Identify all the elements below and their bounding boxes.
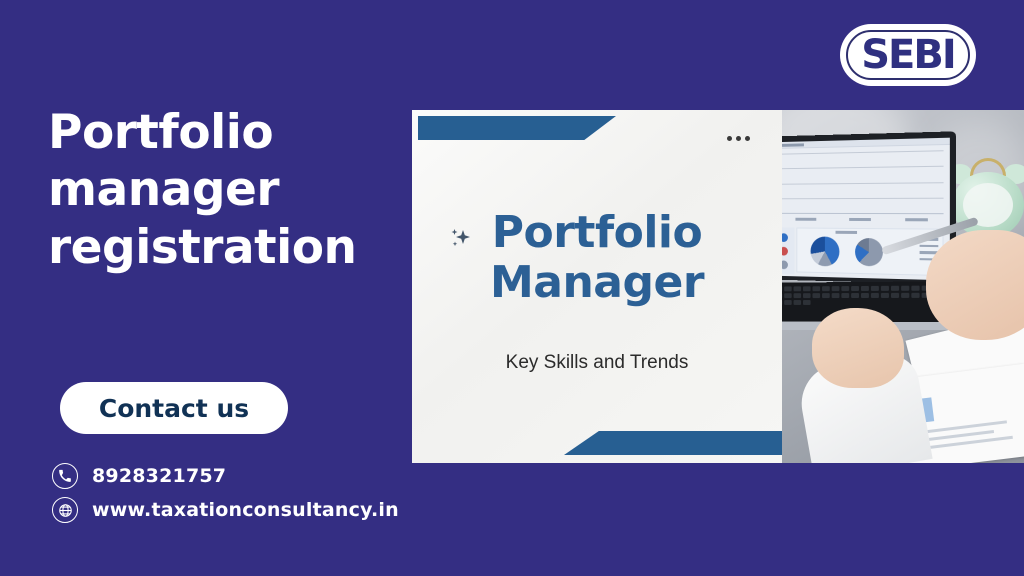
phone-icon [52, 463, 78, 489]
contact-phone-row[interactable]: 8928321757 [52, 463, 226, 489]
page-title: Portfolio manager registration [48, 104, 398, 276]
globe-icon [52, 497, 78, 523]
decor-band-bottom [564, 431, 782, 455]
card-title-line2: Manager [446, 258, 748, 308]
sebi-logo[interactable]: SEBI [840, 24, 976, 86]
hero-photo [782, 110, 1024, 463]
photo-hand-left [812, 308, 904, 388]
contact-us-label: Contact us [99, 394, 249, 423]
card-text-panel: Portfolio Manager Key Skills and Trends [412, 110, 782, 463]
decor-band-top [418, 116, 616, 140]
ellipsis-icon[interactable] [727, 136, 750, 141]
dashboard-bar-chart [782, 150, 944, 214]
card-title: Portfolio Manager [412, 208, 782, 308]
sebi-logo-text: SEBI [861, 35, 955, 75]
contact-us-button[interactable]: Contact us [60, 382, 288, 434]
promo-card: Portfolio Manager Key Skills and Trends [412, 110, 1024, 463]
contact-website-row[interactable]: www.taxationconsultancy.in [52, 497, 399, 523]
card-title-line1: Portfolio [446, 208, 748, 258]
photo-hand-right [926, 230, 1024, 340]
dashboard-side-panel [782, 227, 794, 274]
phone-number: 8928321757 [92, 465, 226, 487]
laptop-dashboard [782, 138, 950, 281]
website-url: www.taxationconsultancy.in [92, 499, 399, 521]
card-subtitle: Key Skills and Trends [412, 352, 782, 374]
